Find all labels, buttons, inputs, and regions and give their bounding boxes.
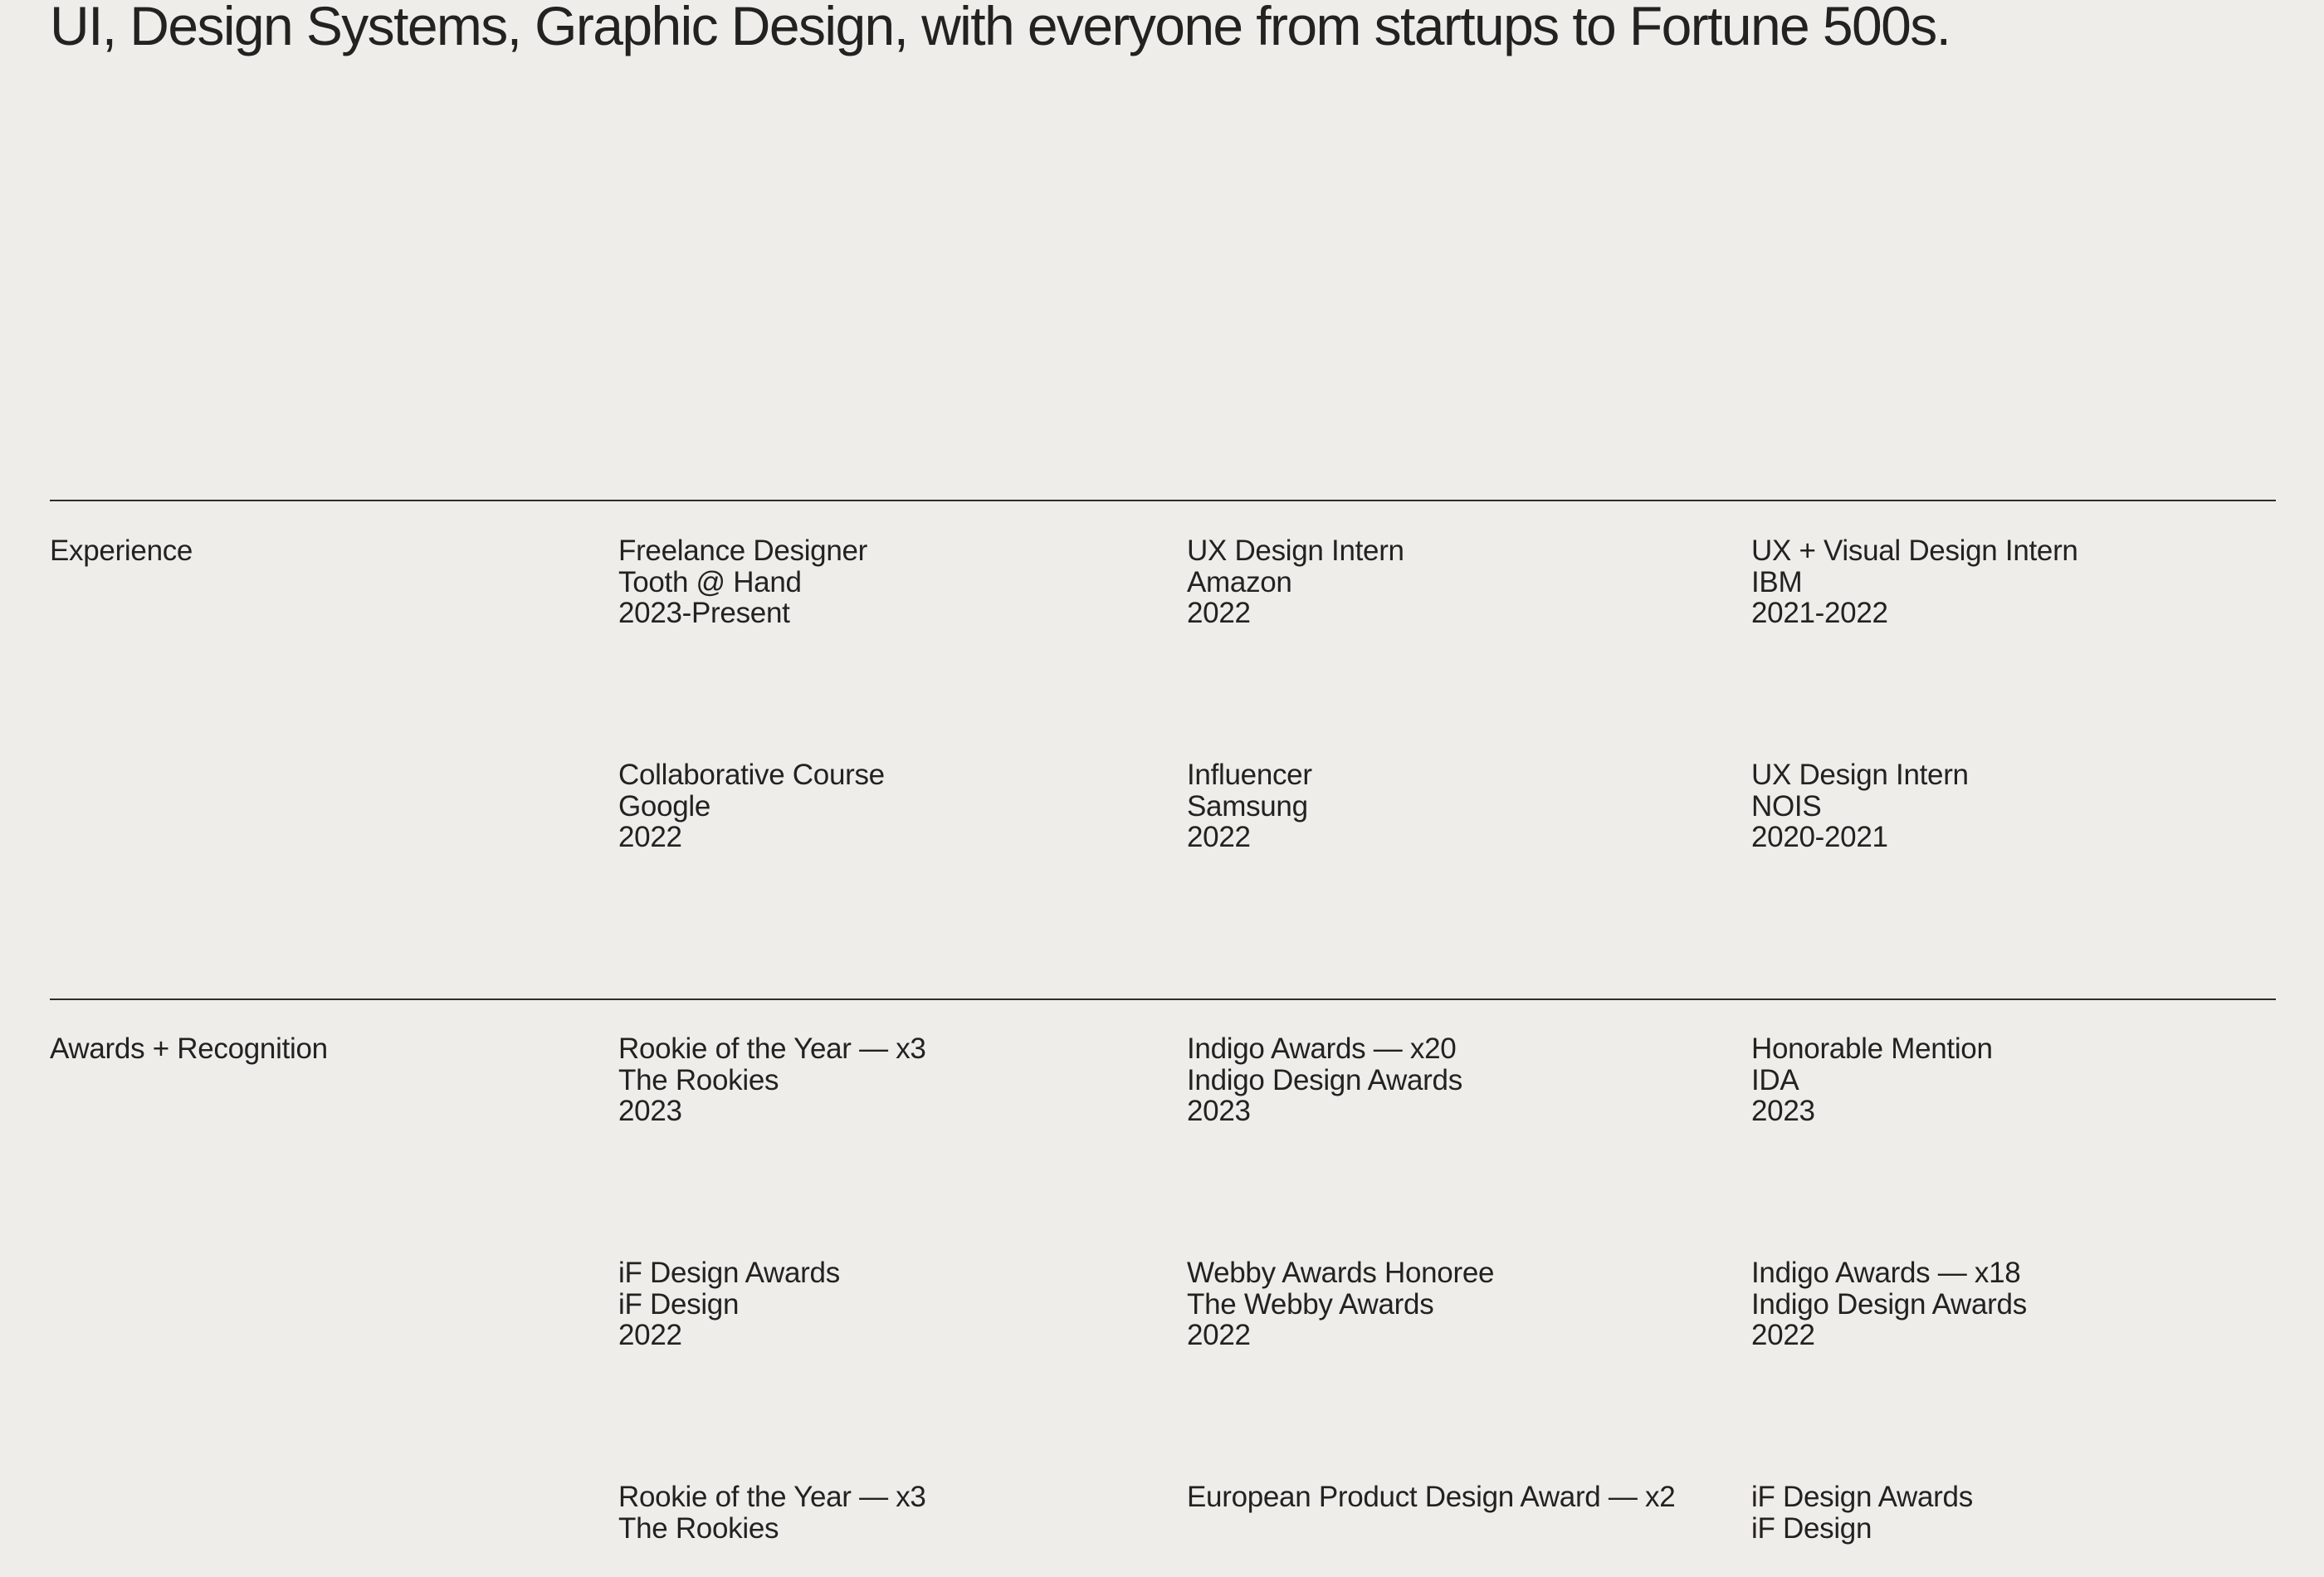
entry-org: Indigo Design Awards — [1751, 1289, 2324, 1321]
section-label-awards: Awards + Recognition — [50, 1033, 328, 1064]
experience-entry[interactable]: UX Design Intern NOIS 2020-2021 — [1751, 759, 2324, 853]
entry-org: The Rookies — [618, 1513, 1166, 1545]
divider-awards — [50, 998, 2276, 1000]
entry-title: Indigo Awards — x20 — [1187, 1033, 1735, 1065]
awards-row: iF Design Awards iF Design 2022 Webby Aw… — [618, 1257, 2287, 1482]
experience-row: Collaborative Course Google 2022 Influen… — [618, 759, 2287, 984]
entry-year: 2023 — [1751, 1096, 2324, 1127]
entry-year: 2021-2022 — [1751, 598, 2324, 629]
entry-org: IDA — [1751, 1065, 2324, 1096]
entry-year: 2023-Present — [618, 598, 1166, 629]
entry-title: iF Design Awards — [1751, 1482, 2324, 1513]
entry-org: Google — [618, 791, 1166, 823]
award-entry[interactable]: Webby Awards Honoree The Webby Awards 20… — [1187, 1257, 1735, 1351]
awards-row: Rookie of the Year — x3 The Rookies 2023… — [618, 1033, 2287, 1257]
award-entry[interactable]: iF Design Awards iF Design 2022 — [618, 1257, 1166, 1351]
experience-entry[interactable]: UX Design Intern Amazon 2022 — [1187, 535, 1735, 629]
award-entry[interactable]: iF Design Awards iF Design — [1751, 1482, 2324, 1544]
entry-org: The Rookies — [618, 1065, 1166, 1096]
entry-year: 2023 — [618, 1096, 1166, 1127]
entry-org: Samsung — [1187, 791, 1735, 823]
entry-org: iF Design — [618, 1289, 1166, 1321]
experience-row: Freelance Designer Tooth @ Hand 2023-Pre… — [618, 535, 2287, 759]
entry-year: 2022 — [1187, 598, 1735, 629]
entry-title: Rookie of the Year — x3 — [618, 1482, 1166, 1513]
entry-org: NOIS — [1751, 791, 2324, 823]
entry-title: UX Design Intern — [1187, 535, 1735, 567]
entry-org: Tooth @ Hand — [618, 567, 1166, 598]
entry-title: Collaborative Course — [618, 759, 1166, 791]
resume-page: with Tooth & Hand. Lover of swiss design… — [0, 0, 2324, 1577]
entry-org: iF Design — [1751, 1513, 2324, 1545]
experience-entry[interactable]: Collaborative Course Google 2022 — [618, 759, 1166, 853]
entry-title: UX Design Intern — [1751, 759, 2324, 791]
entry-year: 2022 — [618, 1320, 1166, 1351]
entry-title: European Product Design Award — x2 — [1187, 1482, 1735, 1513]
entry-year: 2022 — [618, 822, 1166, 853]
entry-title: UX + Visual Design Intern — [1751, 535, 2324, 567]
award-entry[interactable]: Rookie of the Year — x3 The Rookies 2023 — [618, 1033, 1166, 1127]
entry-year: 2022 — [1751, 1320, 2324, 1351]
experience-columns: Freelance Designer Tooth @ Hand 2023-Pre… — [618, 535, 2287, 984]
intro-paragraph: with Tooth & Hand. Lover of swiss design… — [50, 0, 2282, 55]
intro-paragraph-container: with Tooth & Hand. Lover of swiss design… — [50, 0, 2282, 55]
entry-title: Indigo Awards — x18 — [1751, 1257, 2324, 1289]
experience-entry[interactable]: UX + Visual Design Intern IBM 2021-2022 — [1751, 535, 2324, 629]
award-entry[interactable]: Indigo Awards — x18 Indigo Design Awards… — [1751, 1257, 2324, 1351]
section-label-experience: Experience — [50, 535, 193, 566]
entry-title: Rookie of the Year — x3 — [618, 1033, 1166, 1065]
awards-row: Rookie of the Year — x3 The Rookies Euro… — [618, 1482, 2287, 1577]
entry-title: iF Design Awards — [618, 1257, 1166, 1289]
entry-year: 2022 — [1187, 822, 1735, 853]
entry-year: 2022 — [1187, 1320, 1735, 1351]
award-entry[interactable]: European Product Design Award — x2 — [1187, 1482, 1735, 1513]
award-entry[interactable]: Honorable Mention IDA 2023 — [1751, 1033, 2324, 1127]
experience-entry[interactable]: Influencer Samsung 2022 — [1187, 759, 1735, 853]
award-entry[interactable]: Rookie of the Year — x3 The Rookies — [618, 1482, 1166, 1544]
entry-title: Freelance Designer — [618, 535, 1166, 567]
entry-year: 2020-2021 — [1751, 822, 2324, 853]
awards-columns: Rookie of the Year — x3 The Rookies 2023… — [618, 1033, 2287, 1577]
entry-title: Honorable Mention — [1751, 1033, 2324, 1065]
award-entry[interactable]: Indigo Awards — x20 Indigo Design Awards… — [1187, 1033, 1735, 1127]
entry-org: IBM — [1751, 567, 2324, 598]
entry-title: Webby Awards Honoree — [1187, 1257, 1735, 1289]
entry-org: The Webby Awards — [1187, 1289, 1735, 1321]
experience-entry[interactable]: Freelance Designer Tooth @ Hand 2023-Pre… — [618, 535, 1166, 629]
entry-title: Influencer — [1187, 759, 1735, 791]
entry-org: Indigo Design Awards — [1187, 1065, 1735, 1096]
divider-experience — [50, 500, 2276, 501]
entry-org: Amazon — [1187, 567, 1735, 598]
entry-year: 2023 — [1187, 1096, 1735, 1127]
